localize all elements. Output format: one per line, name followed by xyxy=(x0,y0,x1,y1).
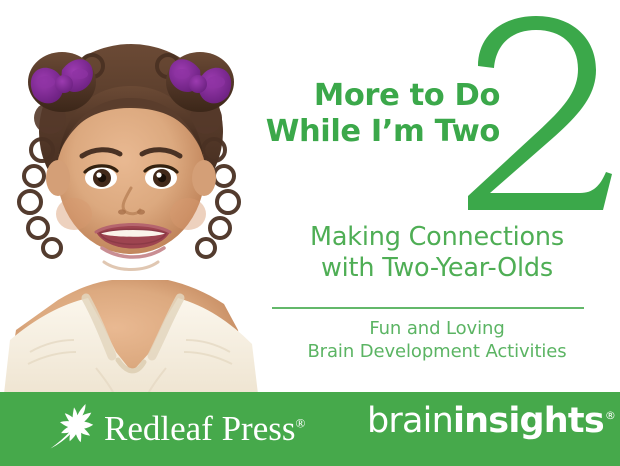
book-cover: More to Do While I’m Two Making Connecti… xyxy=(0,0,620,466)
subtitle-line-2: with Two-Year-Olds xyxy=(258,253,616,284)
tagline-line-2: Brain Development Activities xyxy=(258,341,616,364)
braininsights-brain-text: brain xyxy=(367,404,453,439)
cover-text-panel: More to Do While I’m Two Making Connecti… xyxy=(250,0,620,392)
tagline-line-1: Fun and Loving xyxy=(258,318,616,341)
redleaf-press-text: Redleaf Press xyxy=(104,409,295,448)
redleaf-press-wordmark: Redleaf Press® xyxy=(104,411,305,446)
redleaf-registered-mark: ® xyxy=(295,415,305,430)
braininsights-insights-text: insights xyxy=(453,404,604,439)
title-line-1: More to Do xyxy=(250,78,500,114)
subtitle-line-1: Making Connections xyxy=(258,222,616,253)
maple-leaf-icon xyxy=(46,401,102,453)
redleaf-press-logo: Redleaf Press® xyxy=(46,396,305,458)
braininsights-registered-mark: ® xyxy=(605,410,616,421)
divider-rule xyxy=(272,307,584,309)
child-portrait-photo xyxy=(0,0,262,394)
braininsights-logo: braininsights® xyxy=(367,404,615,452)
cover-title: More to Do While I’m Two xyxy=(250,78,500,150)
cover-subtitle: Making Connections with Two-Year-Olds xyxy=(258,222,616,284)
title-line-2: While I’m Two xyxy=(250,114,500,150)
cover-tagline: Fun and Loving Brain Development Activit… xyxy=(258,318,616,363)
